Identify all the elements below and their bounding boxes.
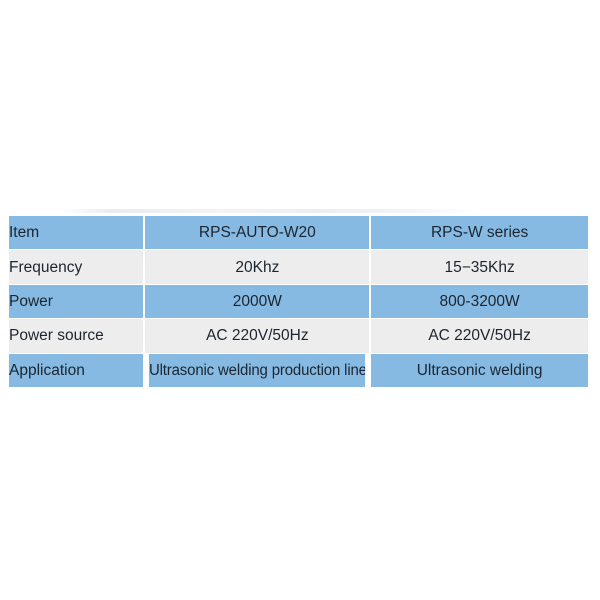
row-value-application-w-series: Ultrasonic welding (371, 354, 588, 387)
row-value-power-w-series: 800-3200W (371, 285, 588, 319)
row-value-application-auto-w20: Ultrasonic welding production line (149, 354, 367, 387)
table-row: Item RPS-AUTO-W20 RPS-W series (9, 216, 588, 250)
table-row: Power 2000W 800-3200W (9, 285, 588, 319)
row-value-frequency-auto-w20: 20Khz (145, 250, 371, 284)
row-value-power-source-w-series: AC 220V/50Hz (371, 319, 588, 353)
row-value-power-auto-w20: 2000W (145, 285, 371, 319)
row-label-application: Application (9, 354, 145, 387)
table-row: Frequency 20Khz 15−35Khz (9, 250, 588, 284)
page-canvas: Item RPS-AUTO-W20 RPS-W series Frequency… (0, 0, 600, 600)
row-value-power-source-auto-w20: AC 220V/50Hz (145, 319, 371, 353)
specification-table-body: Item RPS-AUTO-W20 RPS-W series Frequency… (9, 216, 588, 387)
row-value-item-auto-w20: RPS-AUTO-W20 (145, 216, 371, 250)
row-label-frequency: Frequency (9, 250, 145, 284)
table-row: Application Ultrasonic welding productio… (9, 354, 588, 387)
specification-table: Item RPS-AUTO-W20 RPS-W series Frequency… (9, 216, 588, 387)
row-value-frequency-w-series: 15−35Khz (371, 250, 588, 284)
row-label-power: Power (9, 285, 145, 319)
table-row: Power source AC 220V/50Hz AC 220V/50Hz (9, 319, 588, 353)
row-label-power-source: Power source (9, 319, 145, 353)
row-value-item-w-series: RPS-W series (371, 216, 588, 250)
faint-artifact-line (60, 209, 480, 213)
row-label-item: Item (9, 216, 145, 250)
